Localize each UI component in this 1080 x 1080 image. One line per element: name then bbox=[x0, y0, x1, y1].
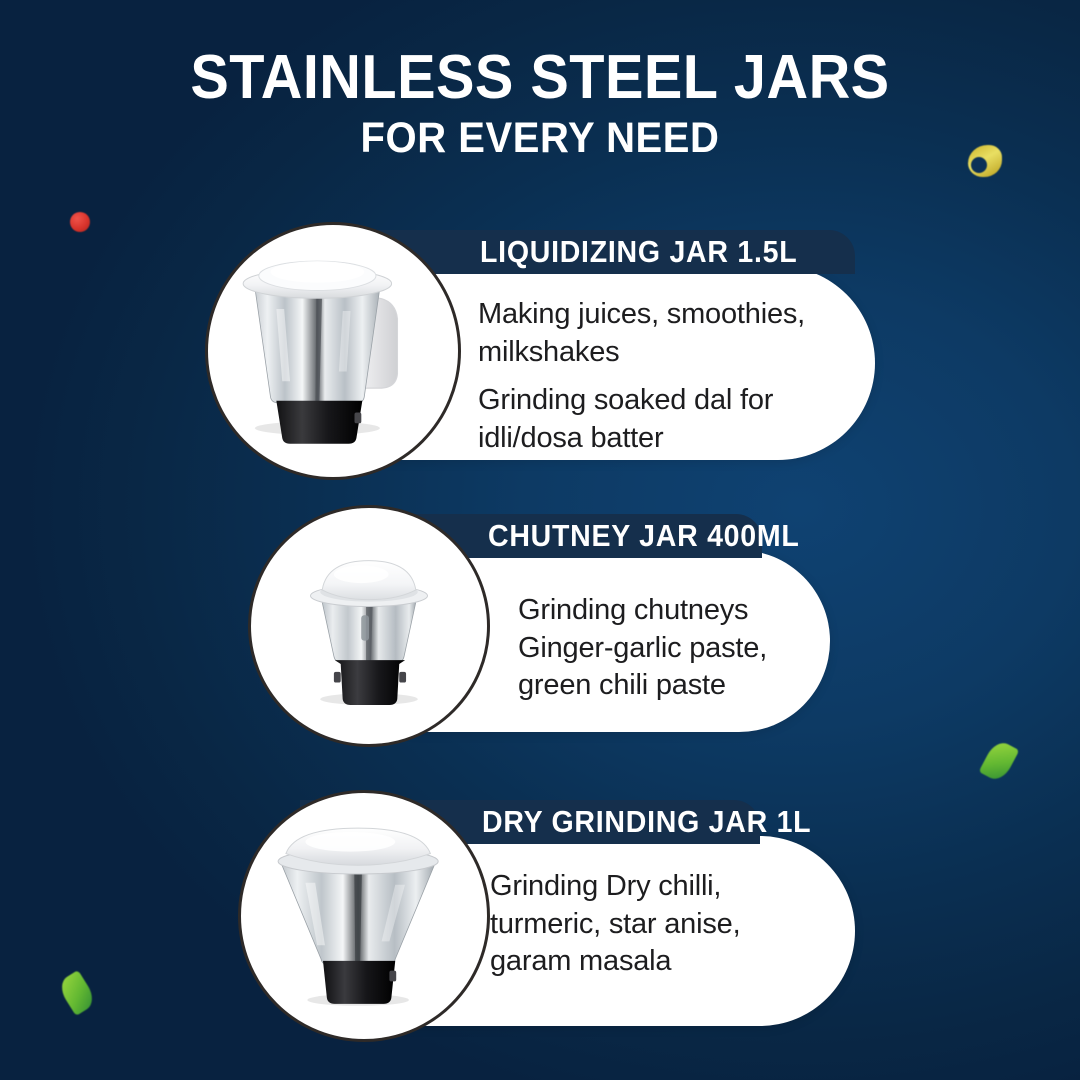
yellow-crescent-seed bbox=[968, 145, 1002, 177]
card2-line2: Ginger-garlic paste, bbox=[518, 632, 767, 664]
card1-line1: Making juices, smoothies, bbox=[478, 298, 805, 330]
chutney-jar-image bbox=[248, 505, 490, 747]
chutney-jar-svg bbox=[251, 508, 487, 744]
jar-base bbox=[276, 401, 362, 444]
card3-line3: garam masala bbox=[490, 945, 671, 977]
green-leaf-right bbox=[979, 738, 1020, 784]
card3-title: DRY GRINDING JAR 1L bbox=[482, 804, 811, 840]
liquidizing-jar-svg bbox=[208, 225, 458, 477]
card1-line4: idli/dosa batter bbox=[478, 422, 663, 454]
dry-grinding-jar-svg bbox=[241, 793, 487, 1039]
card2-description: Grinding chutneys Ginger-garlic paste, g… bbox=[518, 592, 848, 705]
card2-line1: Grinding chutneys bbox=[518, 594, 748, 626]
jar-base bbox=[323, 961, 395, 1004]
poster-header: STAINLESS STEEL JARS FOR EVERY NEED bbox=[0, 46, 1080, 162]
jar-base bbox=[335, 660, 405, 705]
dry-grinding-jar-image bbox=[238, 790, 490, 1042]
card1-description: Making juices, smoothies, milkshakes Gri… bbox=[478, 296, 868, 458]
red-berry-dot bbox=[70, 212, 90, 232]
page-subtitle: FOR EVERY NEED bbox=[38, 116, 1042, 161]
card3-description: Grinding Dry chilli, turmeric, star anis… bbox=[490, 868, 860, 981]
page-title: STAINLESS STEEL JARS bbox=[38, 46, 1042, 110]
liquidizing-jar-image bbox=[205, 222, 461, 480]
card3-line2: turmeric, star anise, bbox=[490, 908, 740, 940]
card2-line3: green chili paste bbox=[518, 669, 726, 701]
card1-line2: milkshakes bbox=[478, 336, 619, 368]
card1-line3: Grinding soaked dal for bbox=[478, 384, 773, 416]
card1-title: LIQUIDIZING JAR 1.5L bbox=[480, 234, 797, 270]
infographic-poster: STAINLESS STEEL JARS FOR EVERY NEED LIQU… bbox=[0, 0, 1080, 1080]
green-leaf-bottom-left bbox=[56, 970, 98, 1016]
card2-title: CHUTNEY JAR 400ML bbox=[488, 518, 800, 554]
card3-line1: Grinding Dry chilli, bbox=[490, 870, 721, 902]
